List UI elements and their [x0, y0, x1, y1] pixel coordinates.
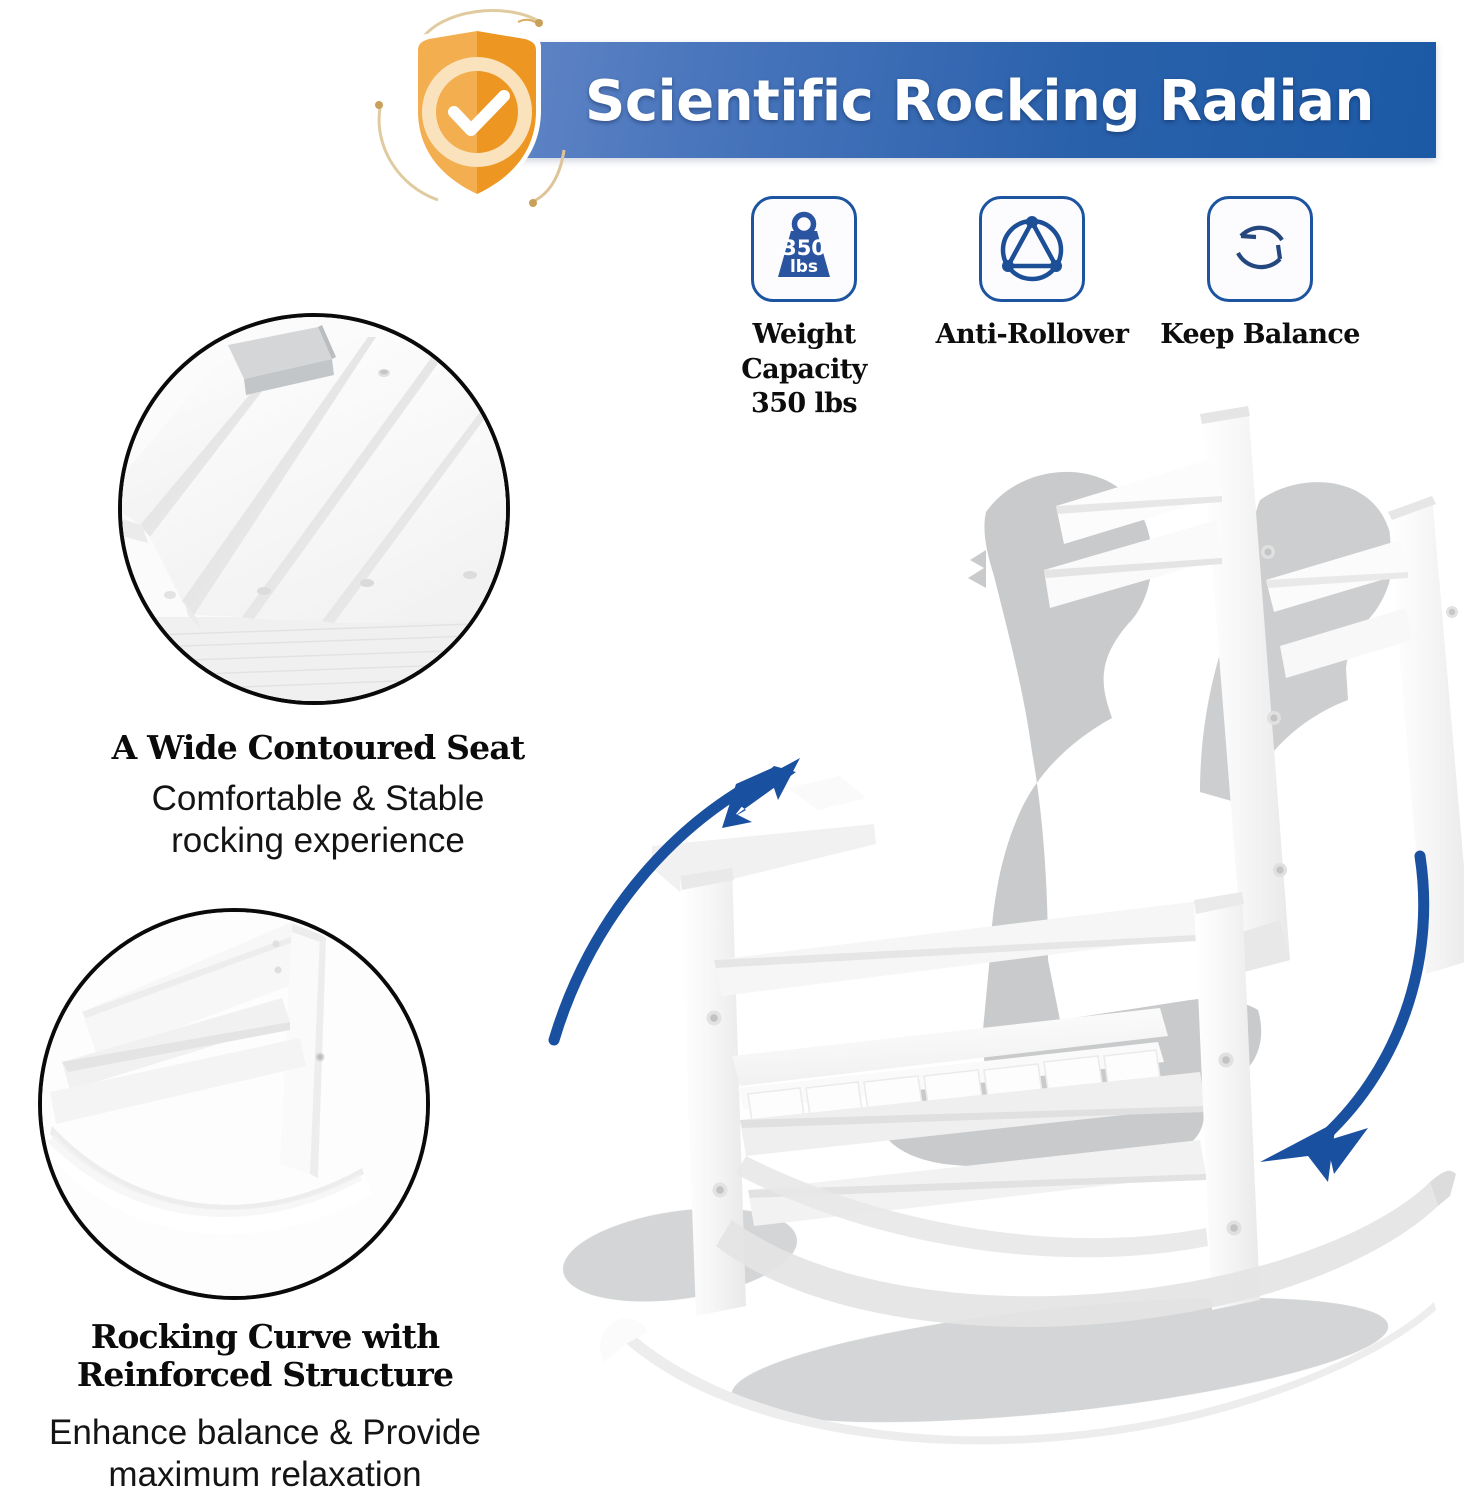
callout-subtitle-line2: maximum relaxation — [0, 1454, 530, 1496]
feature-label: Keep Balance — [1160, 318, 1360, 353]
feature-anti-rollover: Anti-Rollover — [918, 196, 1146, 353]
rock-backward-arrow — [554, 758, 800, 1040]
rotate-circle-arrow-icon — [1220, 209, 1300, 289]
triangle-in-circle-icon — [992, 209, 1072, 289]
feature-icon-box — [1207, 196, 1313, 302]
seat-slats-closeup — [122, 317, 506, 701]
callout-title-rocker: Rocking Curve with Reinforced Structure — [0, 1318, 530, 1395]
weight-350lbs-icon: 350 lbs — [764, 209, 844, 289]
callout-subtitle-line1: Enhance balance & Provide — [0, 1412, 530, 1454]
feature-keep-balance: Keep Balance — [1146, 196, 1374, 353]
callout-photo-rocker-runner — [38, 908, 430, 1300]
arc-lower — [1238, 253, 1280, 267]
feature-weight-capacity: 350 lbs Weight Capacity 350 lbs — [690, 196, 918, 422]
callout-title-line2: Reinforced Structure — [0, 1356, 530, 1394]
rocker-runner-closeup — [42, 912, 426, 1296]
shield-check-icon — [368, 0, 598, 215]
weight-handle — [795, 215, 814, 234]
vertex-dot-left — [1002, 260, 1014, 272]
product-illustration — [500, 400, 1464, 1500]
callout-photo-seat-slats — [118, 313, 510, 705]
page-title: Scientific Rocking Radian — [585, 52, 1415, 150]
arrow-head-left — [1241, 236, 1256, 237]
feature-label-line1: Weight Capacity — [690, 318, 918, 387]
shield-check-badge — [368, 0, 598, 215]
feature-icon-box — [979, 196, 1085, 302]
arrow-head-right — [1278, 245, 1280, 259]
infographic-page: Scientific Rocking Radian — [0, 0, 1464, 1500]
feature-icon-box: 350 lbs — [751, 196, 857, 302]
feature-icon-row: 350 lbs Weight Capacity 350 lbs — [690, 196, 1390, 406]
header-banner: Scientific Rocking Radian — [0, 0, 1464, 215]
feature-label: Anti-Rollover — [936, 318, 1129, 353]
feature-label-line1: Keep Balance — [1160, 318, 1360, 353]
vertex-dot-right — [1050, 260, 1062, 272]
weight-unit: lbs — [790, 257, 818, 277]
callout-subtitle-rocker: Enhance balance & Provide maximum relaxa… — [0, 1412, 530, 1496]
feature-label-line1: Anti-Rollover — [936, 318, 1129, 353]
vertex-dot-top — [1026, 216, 1038, 228]
callout-title-line1: Rocking Curve with — [0, 1318, 530, 1356]
